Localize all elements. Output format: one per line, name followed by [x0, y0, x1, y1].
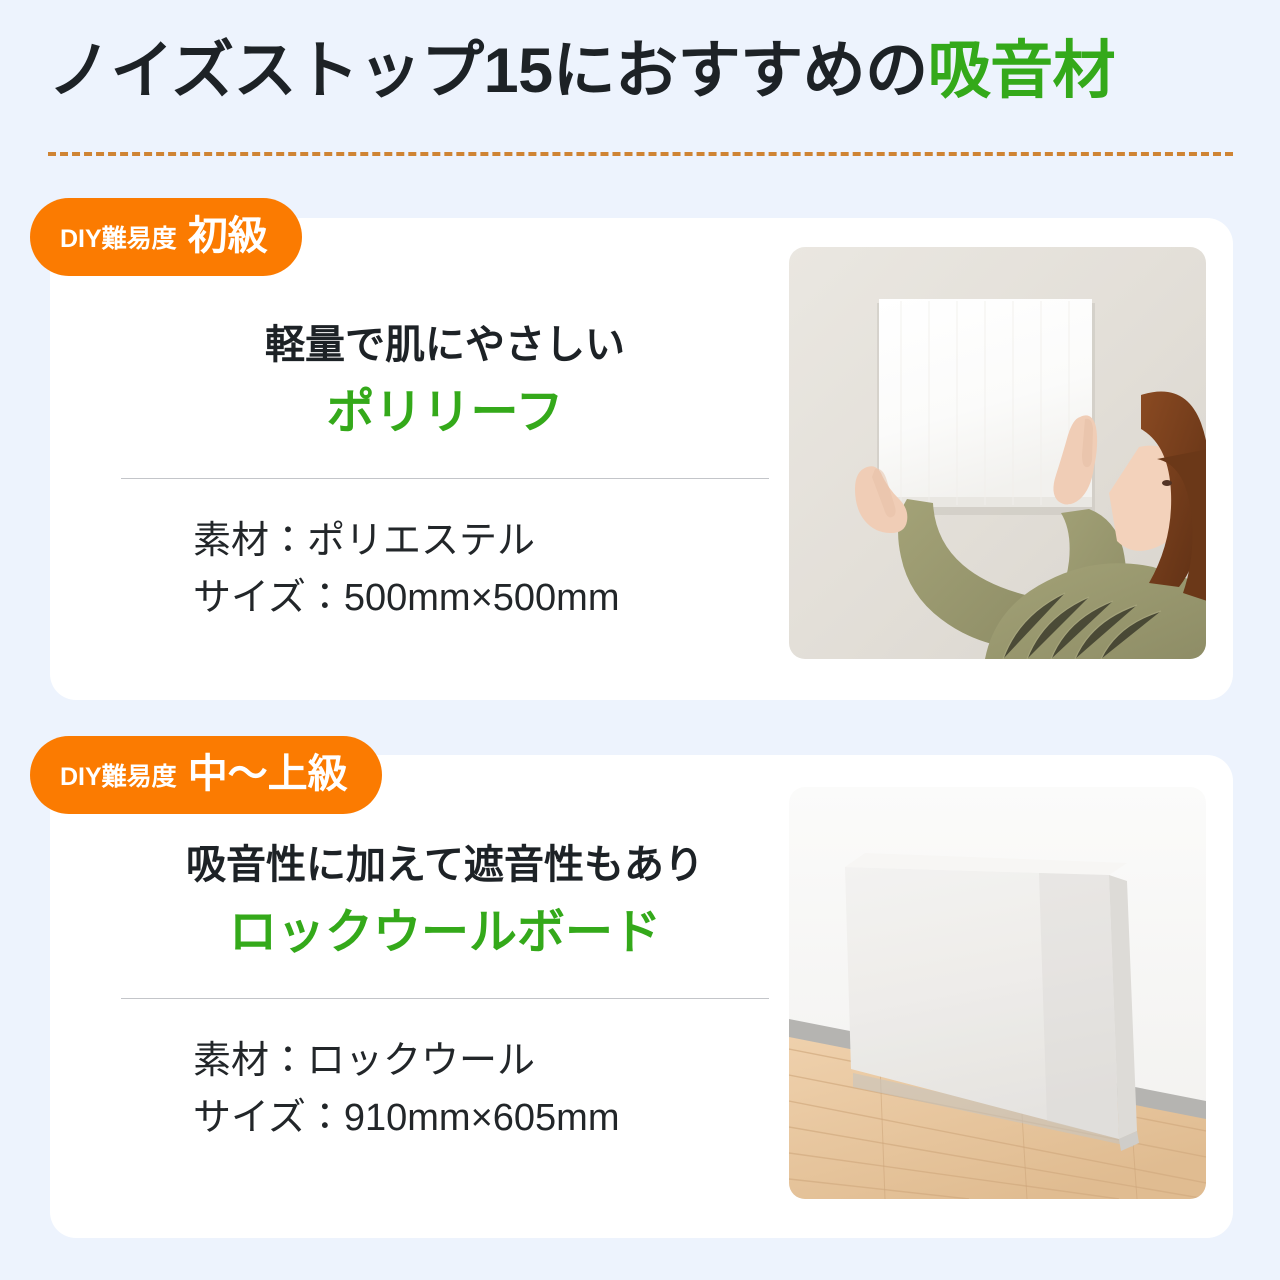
card-1-text-column: 軽量で肌にやさしい ポリリーフ 素材：ポリエステル サイズ：500mm×500m… [95, 320, 795, 627]
product-card-poly-leaf: 軽量で肌にやさしい ポリリーフ 素材：ポリエステル サイズ：500mm×500m… [50, 218, 1233, 700]
card-2-lead-text: 吸音性に加えて遮音性もあり [95, 840, 795, 890]
card-1-product-name: ポリリーフ [95, 382, 795, 444]
page-header: ノイズストップ15におすすめの吸音材 [48, 38, 1238, 104]
page-title: ノイズストップ15におすすめの吸音材 [48, 38, 1238, 104]
card-1-divider [121, 478, 769, 479]
card-2-text-column: 吸音性に加えて遮音性もあり ロックウールボード 素材：ロックウール サイズ：91… [95, 840, 795, 1147]
card-1-spec-list: 素材：ポリエステル サイズ：500mm×500mm [95, 513, 795, 627]
card-2-spec-list: 素材：ロックウール サイズ：910mm×605mm [95, 1033, 795, 1147]
product-card-rockwool-board: 吸音性に加えて遮音性もあり ロックウールボード 素材：ロックウール サイズ：91… [50, 755, 1233, 1238]
badge-2-prefix: DIY難易度 [60, 757, 177, 793]
badge-2-level: 中〜上級 [188, 754, 348, 794]
card-2-divider [121, 998, 769, 999]
card-1-spec-size: サイズ：500mm×500mm [193, 570, 795, 627]
photo-woman-mounting-panel-illustration [789, 247, 1206, 659]
badge-1-prefix: DIY難易度 [60, 219, 177, 255]
badge-1-level: 初級 [188, 216, 268, 256]
card-1-spec-material: 素材：ポリエステル [193, 513, 795, 570]
difficulty-badge-beginner: DIY難易度 初級 [30, 198, 302, 276]
photo-rockwool-board-illustration [789, 787, 1206, 1199]
card-2-photo [789, 787, 1206, 1199]
card-2-product-name: ロックウールボード [95, 902, 795, 964]
page-title-accent: 吸音材 [928, 36, 1116, 106]
card-2-spec-size: サイズ：910mm×605mm [193, 1090, 795, 1147]
difficulty-badge-intermediate-advanced: DIY難易度 中〜上級 [30, 736, 382, 814]
page-title-main: ノイズストップ15におすすめの [48, 36, 928, 106]
card-2-spec-material: 素材：ロックウール [193, 1033, 795, 1090]
title-dashed-divider [48, 152, 1233, 156]
card-1-lead-text: 軽量で肌にやさしい [95, 320, 795, 370]
card-1-photo [789, 247, 1206, 659]
